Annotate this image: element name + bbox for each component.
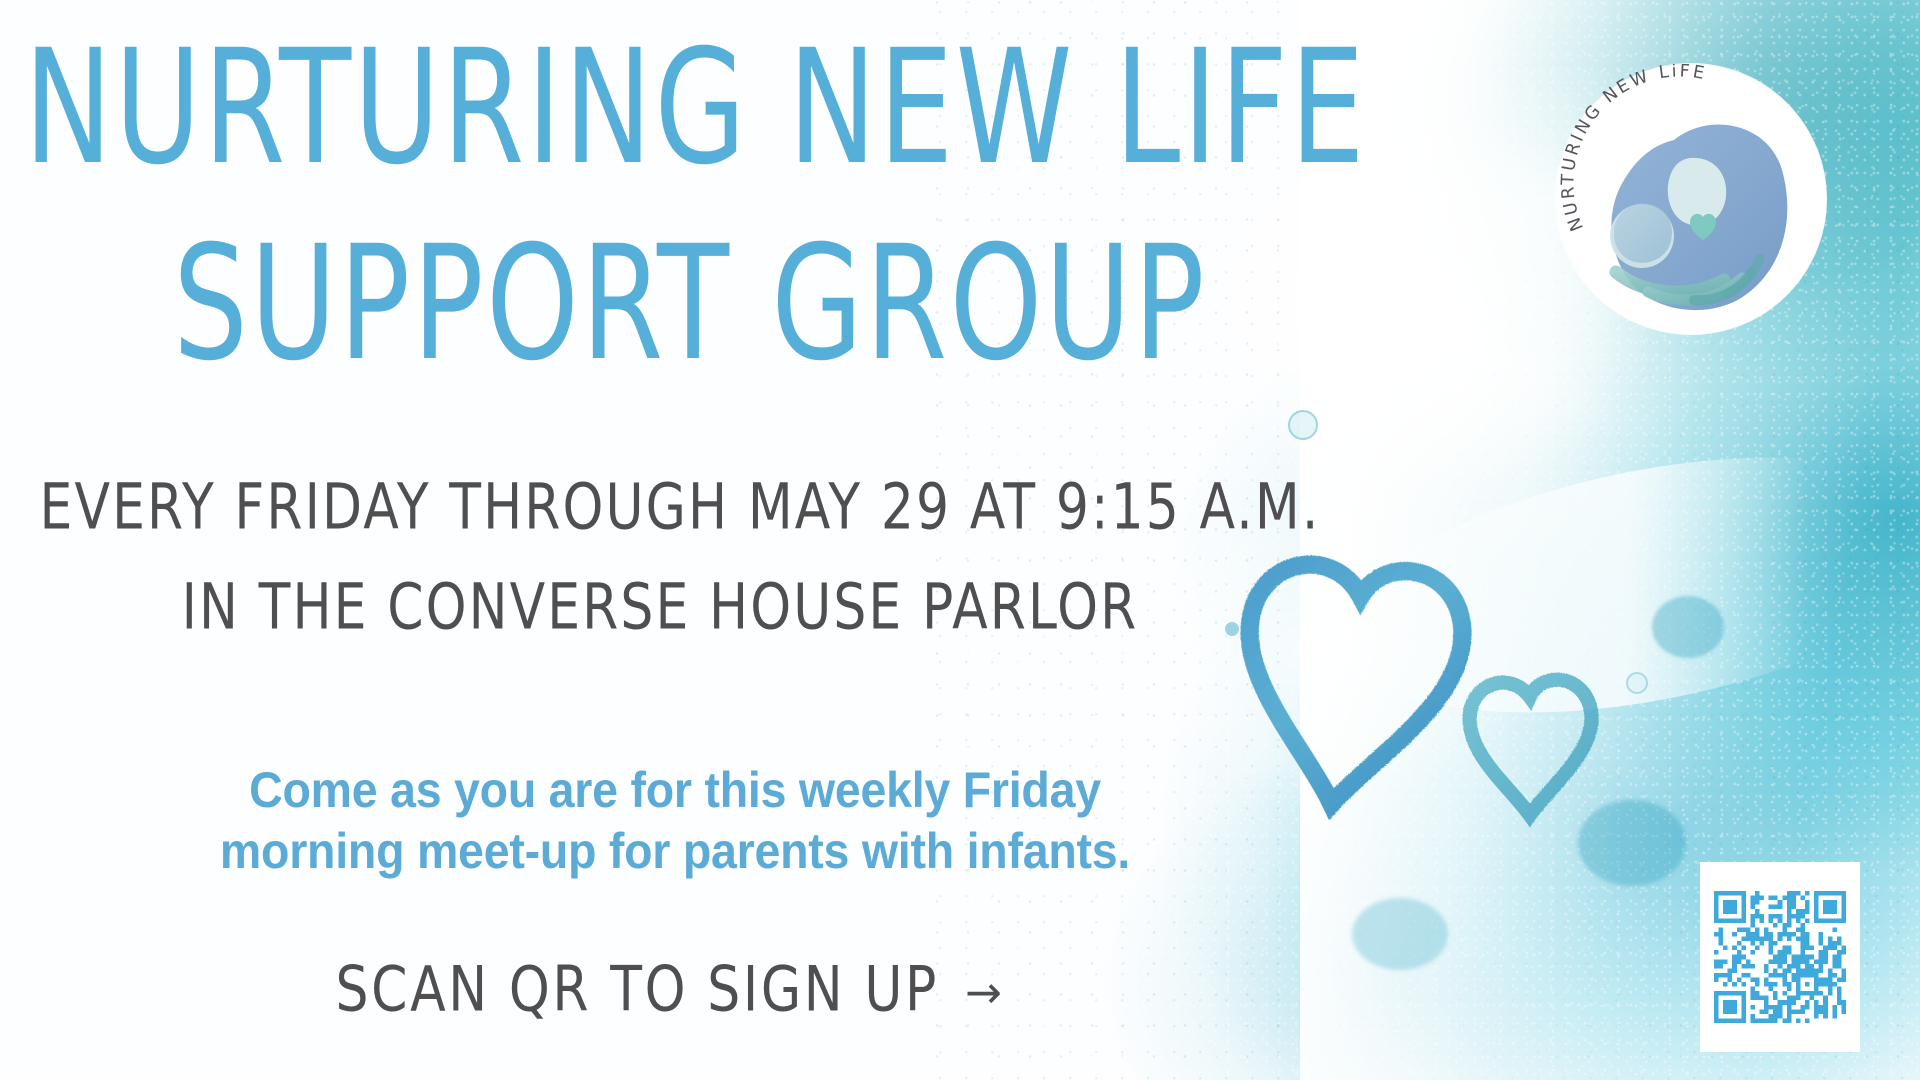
event-schedule-line: Every Friday through May 29 at 9:15 a.m. [0,471,1360,544]
scan-qr-label: Scan QR to sign up [336,954,939,1026]
poster-title: Nurturing New Life Support Group [0,28,1260,342]
organization-logo: NURTURING NEW LiFE [1556,64,1826,334]
poster-canvas: Nurturing New Life Support Group Every F… [0,0,1920,1080]
watercolor-blob [1352,898,1448,970]
title-line-1: Nurturing New Life [24,28,1260,186]
watercolor-bubble-icon [1288,410,1318,440]
qr-code-image[interactable] [1714,891,1846,1023]
signup-qr-code[interactable] [1700,862,1860,1052]
watercolor-blob [1652,596,1724,658]
scan-qr-cta: Scan QR to sign up→ [0,954,1340,1026]
event-description: Come as you are for this weekly Friday m… [47,760,1303,882]
description-line-1: Come as you are for this weekly Friday [47,760,1303,821]
description-line-2: morning meet-up for parents with infants… [47,821,1303,882]
event-location-line: in the Converse House Parlor [0,571,1320,644]
small-heart-icon [1470,680,1592,815]
title-line-2: Support Group [120,224,1260,382]
arrow-right-icon: → [965,967,1004,1018]
